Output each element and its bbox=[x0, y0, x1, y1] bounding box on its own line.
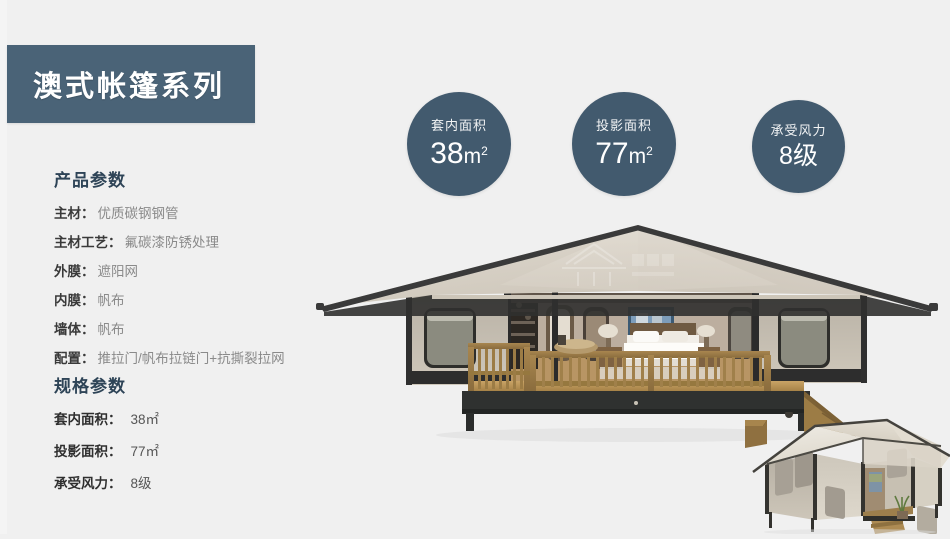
param-label: 套内面积： bbox=[54, 408, 122, 428]
title-banner: 澳式帐篷系列 bbox=[7, 45, 255, 123]
tent-roof bbox=[316, 225, 938, 316]
badge-label: 套内面积 bbox=[431, 119, 487, 132]
param-label: 主材： bbox=[54, 202, 95, 222]
param-value: 氟碳漆防锈处理 bbox=[125, 231, 220, 251]
left-edge-strip bbox=[0, 0, 7, 534]
param-value: 8级 bbox=[131, 472, 152, 492]
param-value: 帆布 bbox=[98, 318, 125, 338]
spec-row-projected-area: 投影面积： 77㎡ bbox=[54, 440, 159, 460]
spec-parameters-heading: 规格参数 bbox=[54, 372, 159, 397]
param-label: 投影面积： bbox=[54, 440, 122, 460]
param-value: 遮阳网 bbox=[98, 260, 139, 280]
badge-label: 承受风力 bbox=[770, 124, 826, 137]
param-value: 77㎡ bbox=[131, 440, 160, 460]
badge-label: 投影面积 bbox=[596, 119, 652, 132]
badge-projected-area: 投影面积 77m2 bbox=[572, 92, 676, 196]
param-value: 帆布 bbox=[98, 289, 125, 309]
param-row-main-material-process: 主材工艺： 氟碳漆防锈处理 bbox=[54, 231, 285, 251]
param-value: 推拉门/帆布拉链门+抗撕裂拉网 bbox=[98, 347, 285, 367]
param-label: 外膜： bbox=[54, 260, 95, 280]
page-title: 澳式帐篷系列 bbox=[33, 63, 225, 105]
spec-row-indoor-area: 套内面积： 38㎡ bbox=[54, 408, 159, 428]
param-value: 38㎡ bbox=[131, 408, 160, 428]
secondary-tent-illustration bbox=[745, 412, 950, 534]
badge-wind-resistance: 承受风力 8级 bbox=[752, 100, 845, 193]
param-value: 优质碳钢钢管 bbox=[98, 202, 179, 222]
param-label: 内膜： bbox=[54, 289, 95, 309]
spec-parameters-section: 规格参数 套内面积： 38㎡ 投影面积： 77㎡ 承受风力： 8级 bbox=[54, 372, 159, 504]
param-row-main-material: 主材： 优质碳钢钢管 bbox=[54, 202, 285, 222]
param-label: 墙体： bbox=[54, 318, 95, 338]
badge-indoor-area: 套内面积 38m2 bbox=[407, 92, 511, 196]
badge-value: 8级 bbox=[779, 144, 818, 169]
param-row-wall: 墙体： 帆布 bbox=[54, 318, 285, 338]
param-row-outer-membrane: 外膜： 遮阳网 bbox=[54, 260, 285, 280]
param-row-inner-membrane: 内膜： 帆布 bbox=[54, 289, 285, 309]
badge-value: 77m2 bbox=[595, 139, 653, 169]
slide-canvas: 澳式帐篷系列 产品参数 主材： 优质碳钢钢管 主材工艺： 氟碳漆防锈处理 外膜：… bbox=[0, 0, 950, 534]
product-parameters-section: 产品参数 主材： 优质碳钢钢管 主材工艺： 氟碳漆防锈处理 外膜： 遮阳网 内膜… bbox=[54, 166, 285, 376]
param-label: 主材工艺： bbox=[54, 231, 122, 251]
param-row-configuration: 配置： 推拉门/帆布拉链门+抗撕裂拉网 bbox=[54, 347, 285, 367]
spec-row-wind-resistance: 承受风力： 8级 bbox=[54, 472, 159, 492]
param-label: 配置： bbox=[54, 347, 95, 367]
param-label: 承受风力： bbox=[54, 472, 122, 492]
product-parameters-heading: 产品参数 bbox=[54, 166, 285, 191]
badge-value: 38m2 bbox=[430, 139, 488, 169]
